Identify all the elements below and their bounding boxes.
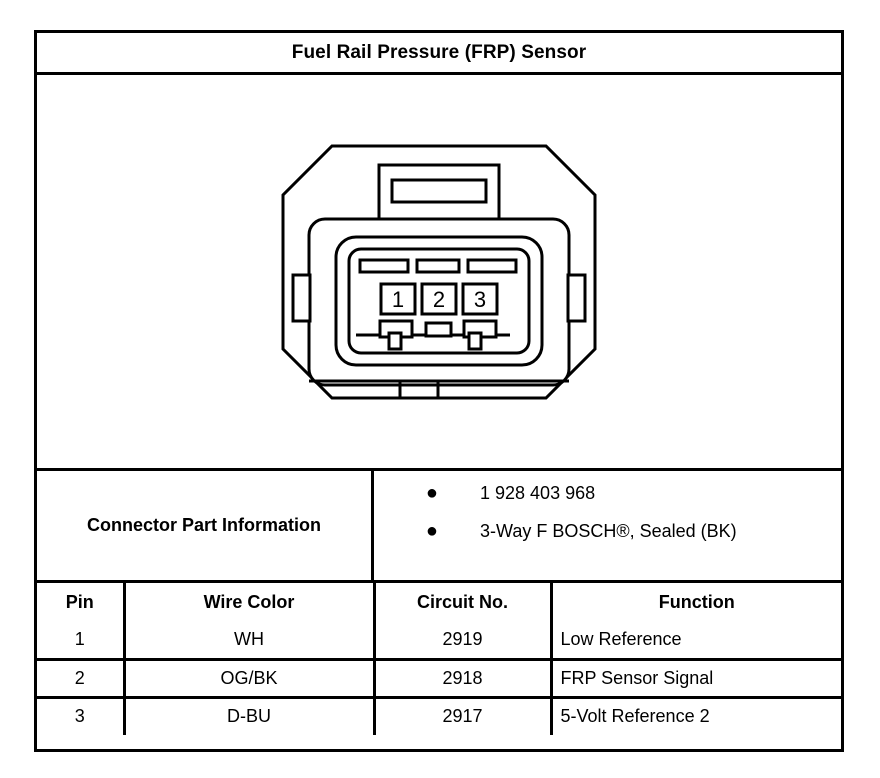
left-side-tab xyxy=(293,275,310,321)
table-row: 2 OG/BK 2918 FRP Sensor Signal xyxy=(37,659,841,697)
column-header-function: Function xyxy=(551,583,841,621)
cell-wire-color: OG/BK xyxy=(124,659,374,697)
cell-pin: 3 xyxy=(37,697,124,735)
column-header-wire-color: Wire Color xyxy=(124,583,374,621)
keying-slot-2 xyxy=(417,260,459,272)
table-row: 1 WH 2919 Low Reference xyxy=(37,621,841,659)
pin-number-1: 1 xyxy=(392,287,404,312)
cell-circuit-no: 2918 xyxy=(374,659,551,697)
list-item: ● 3-Way F BOSCH®, Sealed (BK) xyxy=(374,521,841,559)
page-title-text: Fuel Rail Pressure (FRP) Sensor xyxy=(292,42,587,64)
connector-part-information-label: Connector Part Information xyxy=(37,471,374,580)
connector-end-view-sheet: Fuel Rail Pressure (FRP) Sensor xyxy=(34,30,844,752)
part-description-text: 3-Way F BOSCH®, Sealed (BK) xyxy=(438,521,737,542)
cell-function: 5-Volt Reference 2 xyxy=(551,697,841,735)
right-side-tab xyxy=(568,275,585,321)
bullet-icon: ● xyxy=(374,483,438,503)
terminal-stem-1 xyxy=(389,333,401,349)
pin-number-2: 2 xyxy=(433,287,445,312)
table-row: 3 D-BU 2917 5-Volt Reference 2 xyxy=(37,697,841,735)
cell-pin: 2 xyxy=(37,659,124,697)
page-title: Fuel Rail Pressure (FRP) Sensor xyxy=(37,33,841,75)
cell-circuit-no: 2919 xyxy=(374,621,551,659)
terminal-pad-2 xyxy=(426,323,451,336)
list-item: ● 1 928 403 968 xyxy=(374,483,841,521)
cell-wire-color: D-BU xyxy=(124,697,374,735)
connector-part-information-values: ● 1 928 403 968 ● 3-Way F BOSCH®, Sealed… xyxy=(374,471,841,580)
table-header-row: Pin Wire Color Circuit No. Function xyxy=(37,583,841,621)
pin-number-3: 3 xyxy=(474,287,486,312)
keying-slot-1 xyxy=(360,260,408,272)
cell-pin: 1 xyxy=(37,621,124,659)
cell-wire-color: WH xyxy=(124,621,374,659)
bullet-icon: ● xyxy=(374,521,438,541)
latch-inner-bar xyxy=(392,180,486,202)
connector-part-information-label-text: Connector Part Information xyxy=(87,515,321,536)
column-header-pin: Pin xyxy=(37,583,124,621)
connector-part-information-row: Connector Part Information ● 1 928 403 9… xyxy=(37,471,841,583)
column-header-circuit-no: Circuit No. xyxy=(374,583,551,621)
cell-circuit-no: 2917 xyxy=(374,697,551,735)
keying-slot-3 xyxy=(468,260,516,272)
pin-assignment-table: Pin Wire Color Circuit No. Function 1 WH… xyxy=(37,583,841,735)
terminal-stem-3 xyxy=(469,333,481,349)
cell-function: Low Reference xyxy=(551,621,841,659)
cell-function: FRP Sensor Signal xyxy=(551,659,841,697)
connector-face-view-illustration: 1 2 3 xyxy=(274,137,604,407)
connector-diagram-panel: 1 2 3 xyxy=(37,75,841,471)
part-number-text: 1 928 403 968 xyxy=(438,483,595,504)
